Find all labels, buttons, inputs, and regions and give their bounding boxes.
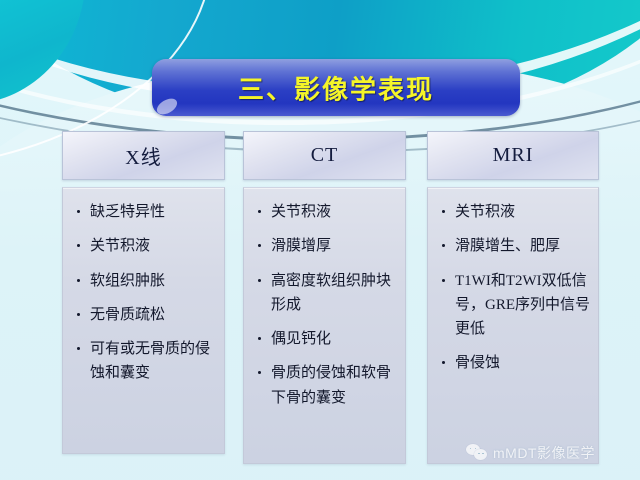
list-item: 滑膜增生、肥厚 [438, 234, 590, 258]
watermark-text: mMDT影像医学 [493, 443, 595, 463]
column-mri: MRI 关节积液 滑膜增生、肥厚 T1WI和T2WI双低信号，GRE序列中信号更… [427, 131, 599, 464]
column-header-ct: CT [243, 131, 406, 180]
list-item: 关节积液 [73, 234, 216, 258]
column-body-mri: 关节积液 滑膜增生、肥厚 T1WI和T2WI双低信号，GRE序列中信号更低 骨侵… [427, 187, 599, 464]
column-ct: CT 关节积液 滑膜增厚 高密度软组织肿块形成 偶见钙化 骨质的侵蚀和软骨下骨的… [243, 131, 406, 464]
list-item: T1WI和T2WI双低信号，GRE序列中信号更低 [438, 269, 590, 342]
bullet-list-mri: 关节积液 滑膜增生、肥厚 T1WI和T2WI双低信号，GRE序列中信号更低 骨侵… [438, 200, 590, 376]
modality-comparison-columns: X线 缺乏特异性 关节积液 软组织肿胀 无骨质疏松 可有或无骨质的侵蚀和囊变 C… [0, 0, 640, 480]
list-item: 可有或无骨质的侵蚀和囊变 [73, 337, 216, 386]
slide-canvas: 三、影像学表现 X线 缺乏特异性 关节积液 软组织肿胀 无骨质疏松 可有或无骨质… [0, 0, 640, 480]
list-item: 缺乏特异性 [73, 200, 216, 224]
bullet-list-ct: 关节积液 滑膜增厚 高密度软组织肿块形成 偶见钙化 骨质的侵蚀和软骨下骨的囊变 [254, 200, 397, 410]
watermark: mMDT影像医学 [466, 443, 595, 463]
list-item: 偶见钙化 [254, 327, 397, 351]
column-header-label: X线 [125, 141, 161, 170]
list-item: 高密度软组织肿块形成 [254, 269, 397, 318]
list-item: 关节积液 [438, 200, 590, 224]
list-item: 骨侵蚀 [438, 351, 590, 375]
list-item: 滑膜增厚 [254, 234, 397, 258]
list-item: 无骨质疏松 [73, 303, 216, 327]
column-xray: X线 缺乏特异性 关节积液 软组织肿胀 无骨质疏松 可有或无骨质的侵蚀和囊变 [62, 131, 225, 454]
column-header-xray: X线 [62, 131, 225, 180]
column-header-label: CT [311, 144, 339, 167]
list-item: 关节积液 [254, 200, 397, 224]
column-header-label: MRI [493, 144, 534, 167]
wechat-icon [466, 444, 488, 462]
bullet-list-xray: 缺乏特异性 关节积液 软组织肿胀 无骨质疏松 可有或无骨质的侵蚀和囊变 [73, 200, 216, 386]
column-body-ct: 关节积液 滑膜增厚 高密度软组织肿块形成 偶见钙化 骨质的侵蚀和软骨下骨的囊变 [243, 187, 406, 464]
column-header-mri: MRI [427, 131, 599, 180]
column-body-xray: 缺乏特异性 关节积液 软组织肿胀 无骨质疏松 可有或无骨质的侵蚀和囊变 [62, 187, 225, 454]
list-item: 软组织肿胀 [73, 269, 216, 293]
list-item: 骨质的侵蚀和软骨下骨的囊变 [254, 361, 397, 410]
